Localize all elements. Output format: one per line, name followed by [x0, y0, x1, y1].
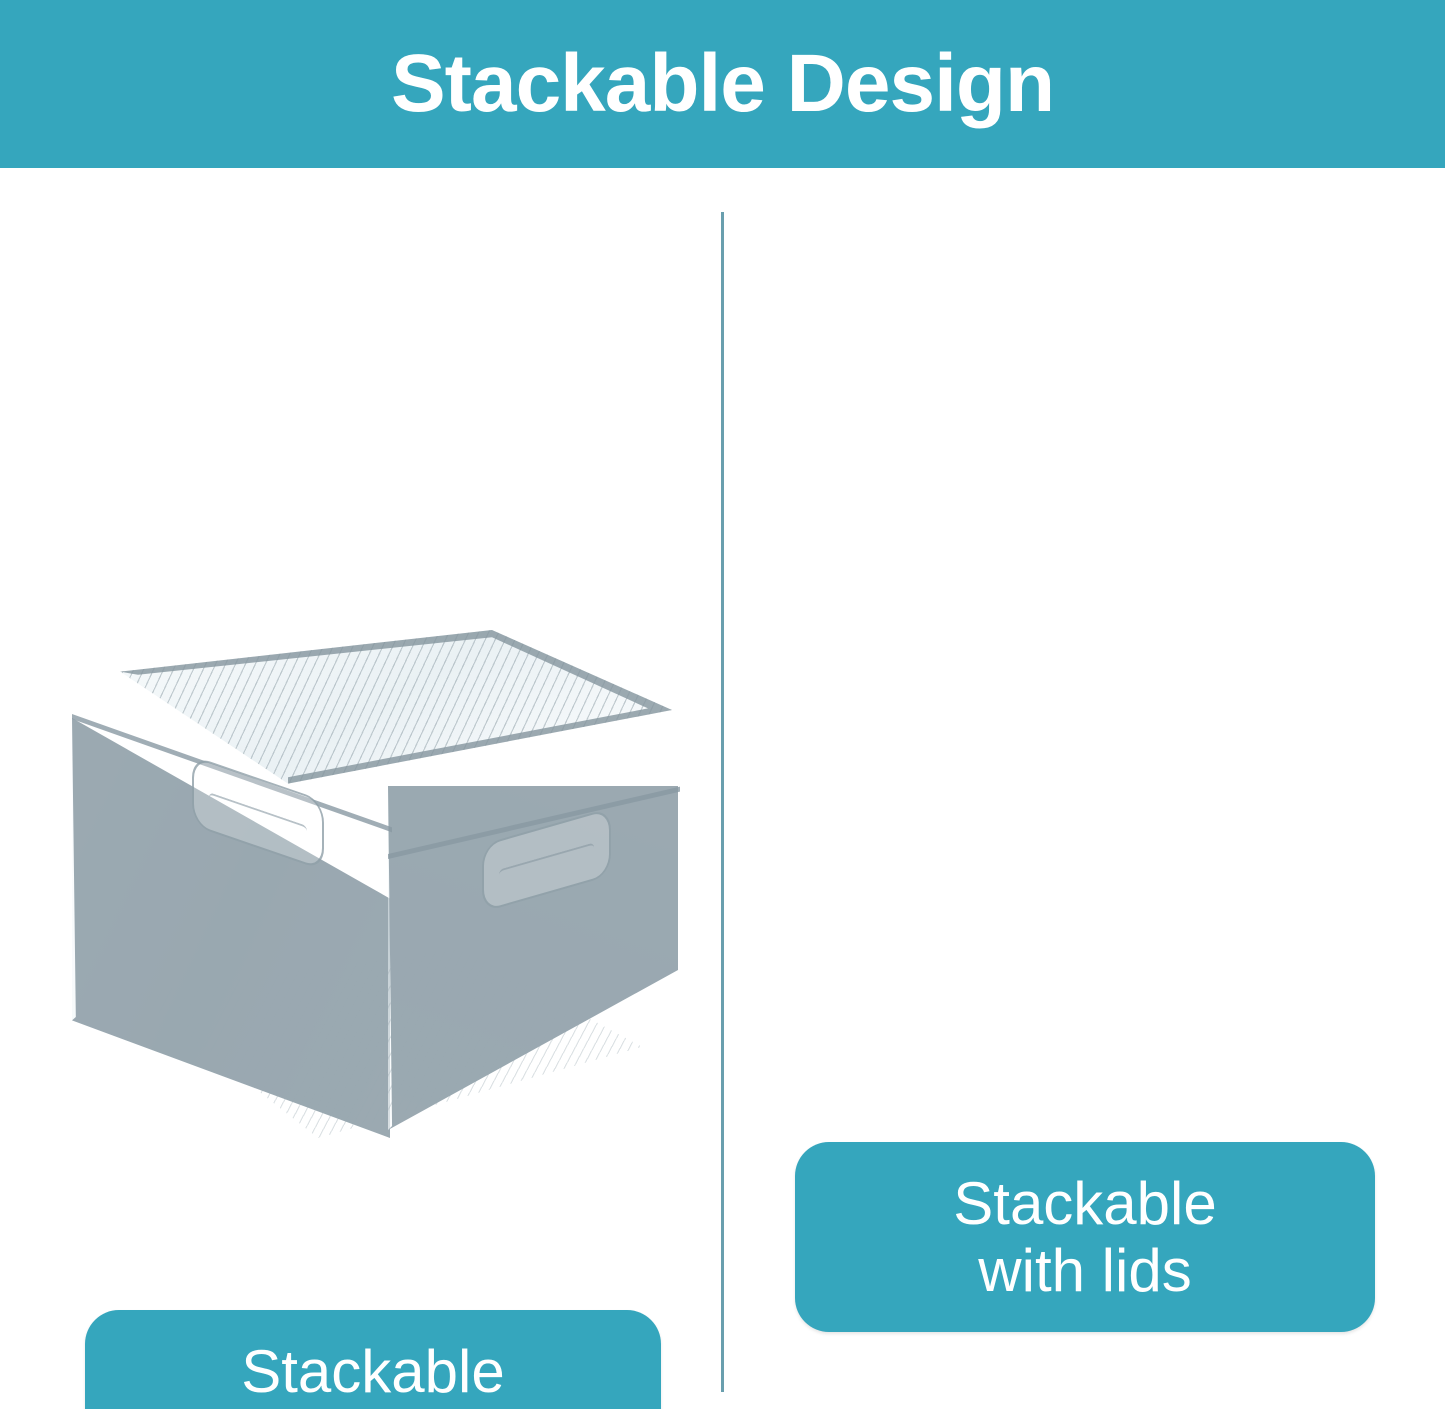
clear-storage-bin-empty	[62, 630, 702, 1180]
page-title: Stackable Design	[391, 43, 1054, 125]
caption-stackable-without-use: Stackable without use	[85, 1310, 661, 1409]
right-panel: 100g FILLED CRISPY ROLLS Our crispy flav…	[724, 168, 1445, 1128]
bin-handle-slot	[499, 843, 594, 880]
bin-handle-slot	[209, 792, 306, 835]
bin-lid-rim	[72, 630, 672, 790]
caption-stackable-with-lids: Stackable with lids	[795, 1142, 1375, 1332]
caption-text: Stackable with lids	[953, 1170, 1217, 1304]
caption-line-1: Stackable	[221, 1338, 525, 1405]
caption-line-1: Stackable	[953, 1170, 1217, 1237]
caption-line-2: without use	[221, 1405, 525, 1409]
infographic-page: Stackable Design	[0, 0, 1445, 1409]
header-banner: Stackable Design	[0, 0, 1445, 168]
caption-text: Stackable without use	[221, 1338, 525, 1409]
left-panel: Stackable without use	[0, 168, 721, 1128]
caption-line-2: with lids	[953, 1237, 1217, 1304]
